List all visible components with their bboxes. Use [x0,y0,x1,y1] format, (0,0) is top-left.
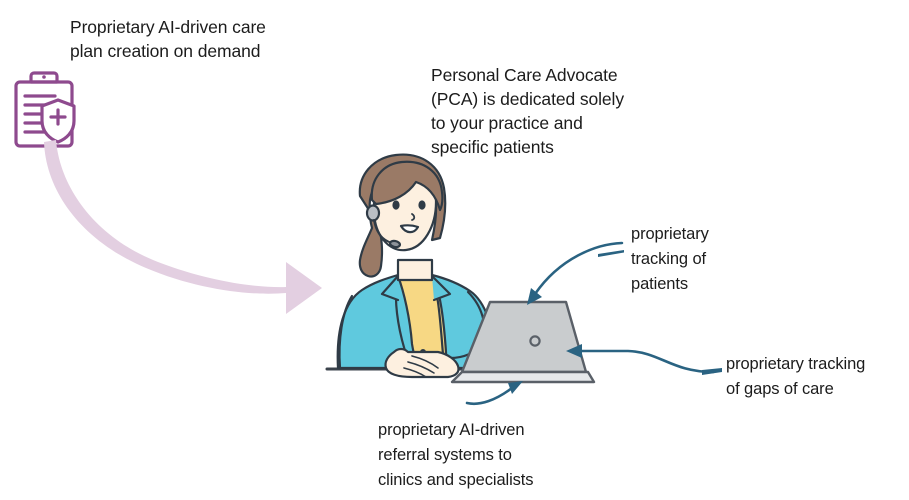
curved-blue-arrow-up-icon [467,381,523,404]
tapered-line-connector-icon [598,250,624,257]
curved-blue-arrow-icon [527,243,622,305]
label-personal-care-advocate: Personal Care Advocate (PCA) is dedicate… [431,63,666,159]
curved-pink-arrow-icon [44,140,322,314]
s-curve-blue-arrow-icon [566,344,713,372]
call-center-agent-with-laptop-illustration [327,155,594,382]
label-referral-systems: proprietary AI-driven referral systems t… [378,418,598,493]
label-tracking-gaps-of-care: proprietary tracking of gaps of care [726,352,906,402]
tapered-line-connector-icon [702,368,722,375]
label-tracking-of-patients: proprietary tracking of patients [631,222,741,297]
infographic-canvas: Proprietary AI-driven care plan creation… [0,0,909,500]
label-care-plan-creation: Proprietary AI-driven care plan creation… [70,15,310,63]
clipboard-shield-plus-icon [16,73,74,146]
